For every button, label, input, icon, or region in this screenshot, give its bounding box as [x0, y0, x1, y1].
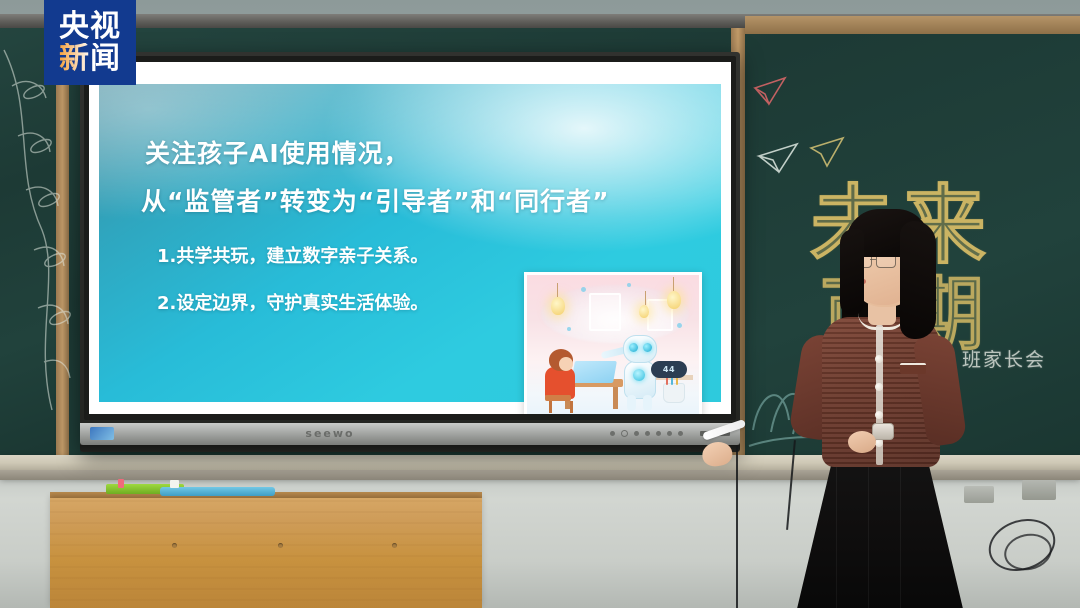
- illustration-sparkle-1: [581, 287, 586, 292]
- display-shadow: [80, 445, 740, 455]
- control-button-2[interactable]: [645, 431, 650, 436]
- control-button-5[interactable]: [678, 431, 683, 436]
- illustration-pencil-cup: [663, 383, 685, 403]
- illustration-child-face: [559, 357, 573, 371]
- display-logo-icon: [90, 427, 114, 440]
- podium-white-chalk: [170, 480, 179, 488]
- illustration-sparkle-2: [627, 283, 631, 287]
- illustration-robot-leg-left: [627, 395, 636, 411]
- presentation-screen[interactable]: 关注孩子AI使用情况， 从“监管者”转变为“引导者”和“同行者” 1.共学共玩，…: [89, 62, 731, 414]
- cctv-news-logo: 央视 新闻: [44, 0, 136, 85]
- cardigan-button-1: [875, 355, 883, 363]
- power-cable-1: [736, 446, 738, 608]
- illustration-lightbulb-1: [551, 297, 565, 315]
- blackboard-left-panel: [0, 26, 64, 466]
- slide-bullet-2: 2.设定边界，守护真实生活体验。: [157, 289, 428, 315]
- illustration-robot-chest-light: [633, 369, 645, 381]
- control-button-3[interactable]: [656, 431, 661, 436]
- sensor-icon: [621, 430, 628, 437]
- illustration-sparkle-4: [567, 327, 571, 331]
- teacher-figure: [780, 195, 1010, 608]
- skirt-fold-1: [836, 445, 837, 608]
- skirt-fold-2: [868, 445, 869, 608]
- cardigan-button-2: [875, 383, 883, 391]
- illustration-robot-head: [623, 335, 657, 363]
- classroom-scene: 未来 可期 班家长会 关注孩子AI使用情况， 从“监管者”转变为“引导者”和“同…: [0, 0, 1080, 608]
- slide-illustration: 44: [524, 272, 702, 414]
- illustration-tablet: [571, 361, 617, 383]
- glasses-bridge: [870, 259, 876, 260]
- teacher-hair-side-right: [900, 221, 936, 339]
- podium-pink-marker: [118, 479, 124, 488]
- illustration-robot-leg-right: [643, 395, 652, 411]
- slide-heading-line2: 从“监管者”转变为“引导者”和“同行者”: [141, 182, 610, 218]
- slide-heading-line1: 关注孩子AI使用情况，: [145, 134, 410, 170]
- control-button-1[interactable]: [634, 431, 639, 436]
- skirt-fold-3: [900, 445, 901, 608]
- podium-screw-1: [172, 543, 177, 548]
- power-button-icon[interactable]: [610, 431, 615, 436]
- teacher-hand-left: [848, 431, 876, 453]
- illustration-robot-eye-right: [643, 343, 652, 352]
- cardigan-pocket: [900, 363, 926, 374]
- podium-wood-grain: [50, 500, 482, 608]
- podium-screw-2: [278, 543, 283, 548]
- control-button-4[interactable]: [667, 431, 672, 436]
- illustration-desk-leg-2: [613, 387, 618, 409]
- logo-text-line1: 央视: [59, 11, 121, 43]
- blackboard-top-rail-right: [745, 16, 1080, 34]
- illustration-lightbulb-2: [667, 291, 681, 309]
- teacher-hair-side-left: [840, 229, 864, 315]
- logo-text-line2: 新闻: [59, 43, 121, 75]
- cardigan-button-4: [875, 439, 883, 447]
- illustration-stool-legs: [549, 401, 573, 413]
- illustration-sparkle-3: [677, 323, 682, 328]
- display-control-buttons[interactable]: [610, 430, 683, 437]
- illustration-lightbulb-3: [639, 305, 649, 318]
- podium-screw-3: [392, 543, 397, 548]
- slide-canvas: 关注孩子AI使用情况， 从“监管者”转变为“引导者”和“同行者” 1.共学共玩，…: [99, 84, 721, 402]
- teacher-wristwatch: [872, 423, 894, 440]
- blackboard-divider-left: [56, 22, 69, 470]
- podium-blue-ruler: [160, 487, 275, 496]
- slide-bullet-1: 1.共学共玩，建立数字亲子关系。: [157, 242, 428, 268]
- illustration-robot-eye-left: [629, 343, 638, 352]
- illustration-badge: 44: [651, 361, 687, 378]
- illustration-wall-frame-1: [589, 293, 621, 331]
- teacher-skirt: [796, 443, 964, 608]
- cardigan-button-3: [875, 411, 883, 419]
- wall-outlet-right: [1022, 480, 1056, 500]
